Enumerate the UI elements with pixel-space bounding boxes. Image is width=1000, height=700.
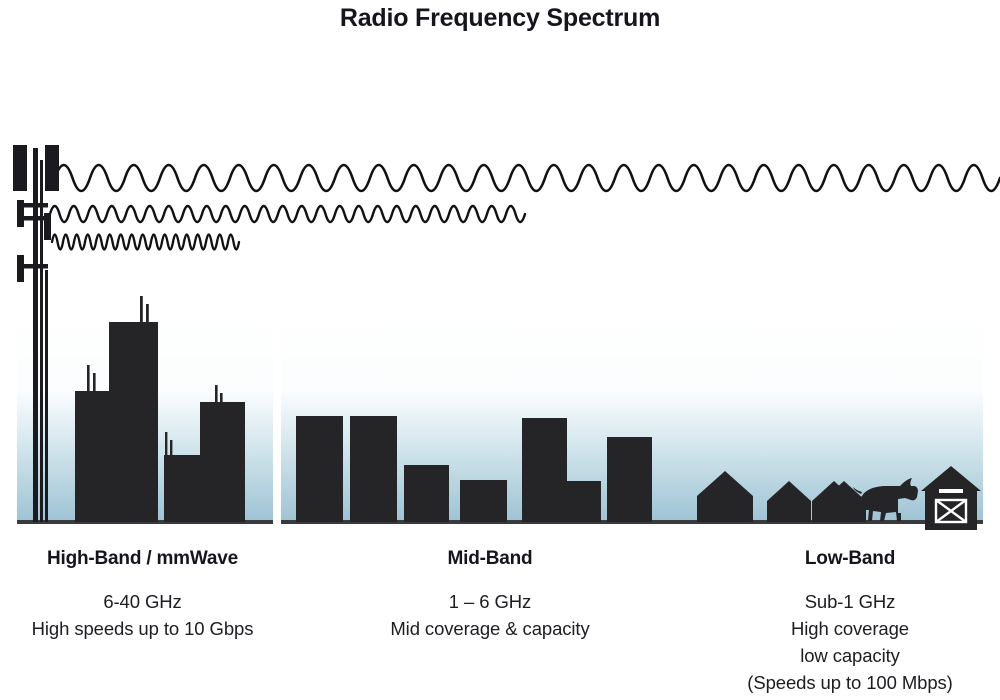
tower-mast — [40, 160, 43, 522]
tower-crossbar — [21, 264, 48, 269]
tower-crossbar — [21, 203, 48, 208]
building-block — [522, 418, 567, 522]
building-block — [460, 480, 507, 522]
skyscraper-spire — [140, 296, 143, 323]
band-frequency-high: 6-40 GHz — [0, 588, 285, 615]
wave-low-frequency — [55, 165, 1000, 191]
tower-antenna-panel — [44, 213, 51, 240]
band-description-high: High speeds up to 10 Gbps — [0, 615, 285, 642]
band-frequency-low: Sub-1 GHz — [700, 588, 1000, 615]
band-description-low: High coverage — [700, 615, 1000, 642]
tower-leg — [45, 270, 48, 522]
band-caption-mid: Mid-Band 1 – 6 GHz Mid coverage & capaci… — [340, 548, 640, 642]
band-title-low: Low-Band — [700, 548, 1000, 570]
building-block — [350, 416, 397, 522]
building-block — [607, 437, 652, 522]
tower-antenna-panel — [17, 200, 24, 227]
skyscraper-spire — [165, 432, 167, 457]
building-block — [296, 416, 343, 522]
band-frequency-mid: 1 – 6 GHz — [340, 588, 640, 615]
radio-waves-group — [50, 165, 1000, 250]
band-caption-low: Low-Band Sub-1 GHz High coverage low cap… — [700, 548, 1000, 696]
tower-antenna-panel — [45, 145, 59, 191]
building-block — [567, 481, 601, 522]
band-description-mid: Mid coverage & capacity — [340, 615, 640, 642]
barn-hayloft-window — [939, 489, 963, 493]
wave-high-frequency — [52, 235, 239, 250]
band-extra-line-low: low capacity — [700, 642, 1000, 669]
building-skyscraper — [164, 455, 200, 522]
band-extra-line-low: (Speeds up to 100 Mbps) — [700, 669, 1000, 696]
skyscraper-spire — [87, 365, 90, 395]
building-block — [404, 465, 449, 522]
skyscraper-spire — [146, 304, 149, 323]
band-title-mid: Mid-Band — [340, 548, 640, 570]
tower-crossbar — [21, 216, 48, 221]
building-skyscraper — [200, 402, 245, 522]
band-title-high: High-Band / mmWave — [0, 548, 285, 570]
wave-mid-frequency — [50, 206, 525, 222]
skyscraper-spire — [170, 440, 172, 457]
band-caption-high: High-Band / mmWave 6-40 GHz High speeds … — [0, 548, 285, 642]
tower-antenna-panel — [17, 255, 24, 282]
building-skyscraper — [109, 322, 158, 522]
tower-antenna-panel — [13, 145, 27, 191]
